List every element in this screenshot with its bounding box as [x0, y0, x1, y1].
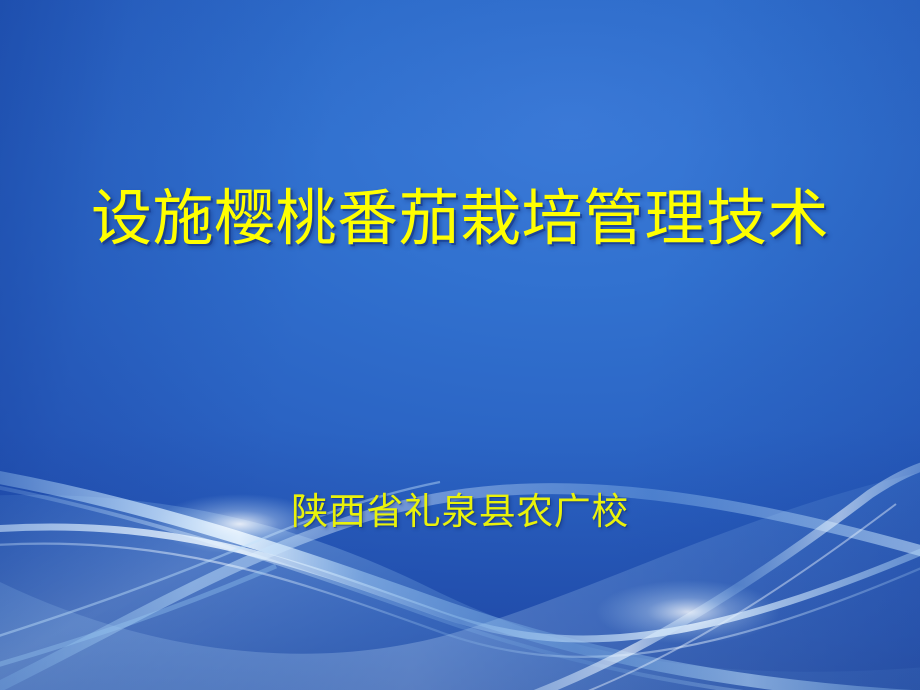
title-slide: 设施樱桃番茄栽培管理技术 陕西省礼泉县农广校 [0, 0, 920, 690]
slide-subtitle: 陕西省礼泉县农广校 [0, 492, 920, 535]
wave-crossing-glow-right [596, 580, 780, 644]
slide-subtitle-text: 陕西省礼泉县农广校 [291, 492, 629, 535]
slide-title-text: 设施樱桃番茄栽培管理技术 [91, 186, 829, 254]
slide-title: 设施樱桃番茄栽培管理技术 [0, 186, 920, 254]
